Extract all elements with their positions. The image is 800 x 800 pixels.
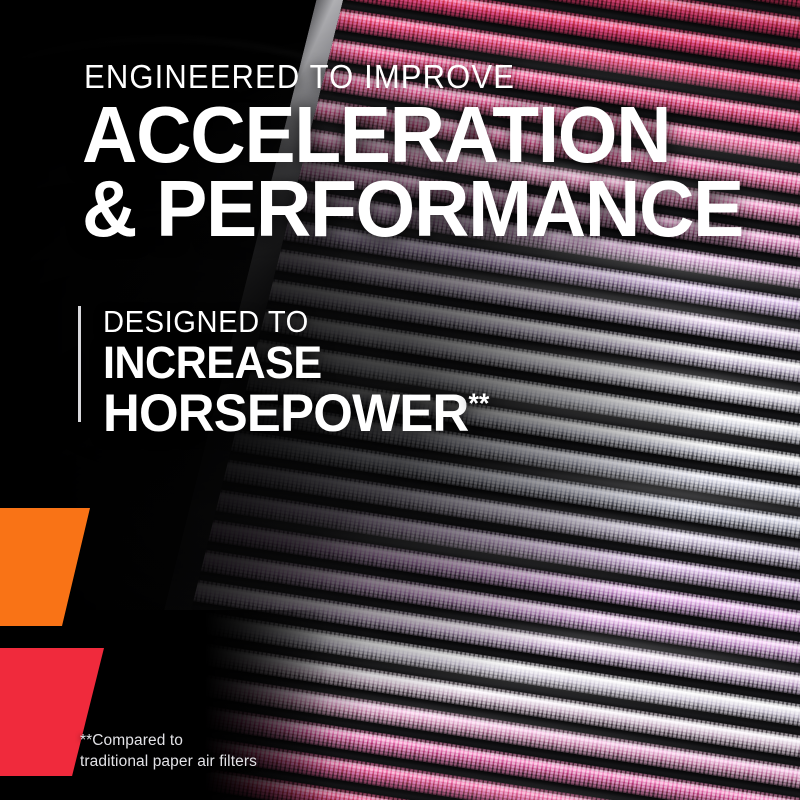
- sub-eyebrow-text: DESIGNED TO: [103, 306, 481, 337]
- sub-headline-line-2: HORSEPOWER**: [103, 387, 489, 441]
- orange-parallelogram-shape: [0, 508, 90, 626]
- footnote-text: **Compared to traditional paper air filt…: [80, 730, 257, 773]
- sub-headline-line-1: INCREASE: [103, 339, 489, 387]
- headline-line-2: & PERFORMANCE: [82, 172, 743, 246]
- footnote-line-2: traditional paper air filters: [80, 751, 257, 772]
- footnote-marker: **: [468, 387, 489, 418]
- main-headline: ACCELERATION & PERFORMANCE: [82, 98, 743, 247]
- promo-banner: ENGINEERED TO IMPROVE ACCELERATION & PER…: [0, 0, 800, 800]
- sub-headline-block: DESIGNED TO INCREASE HORSEPOWER**: [78, 306, 506, 422]
- footnote-line-1: **Compared to: [80, 730, 257, 751]
- sub-headline-line-2-text: HORSEPOWER: [103, 384, 468, 443]
